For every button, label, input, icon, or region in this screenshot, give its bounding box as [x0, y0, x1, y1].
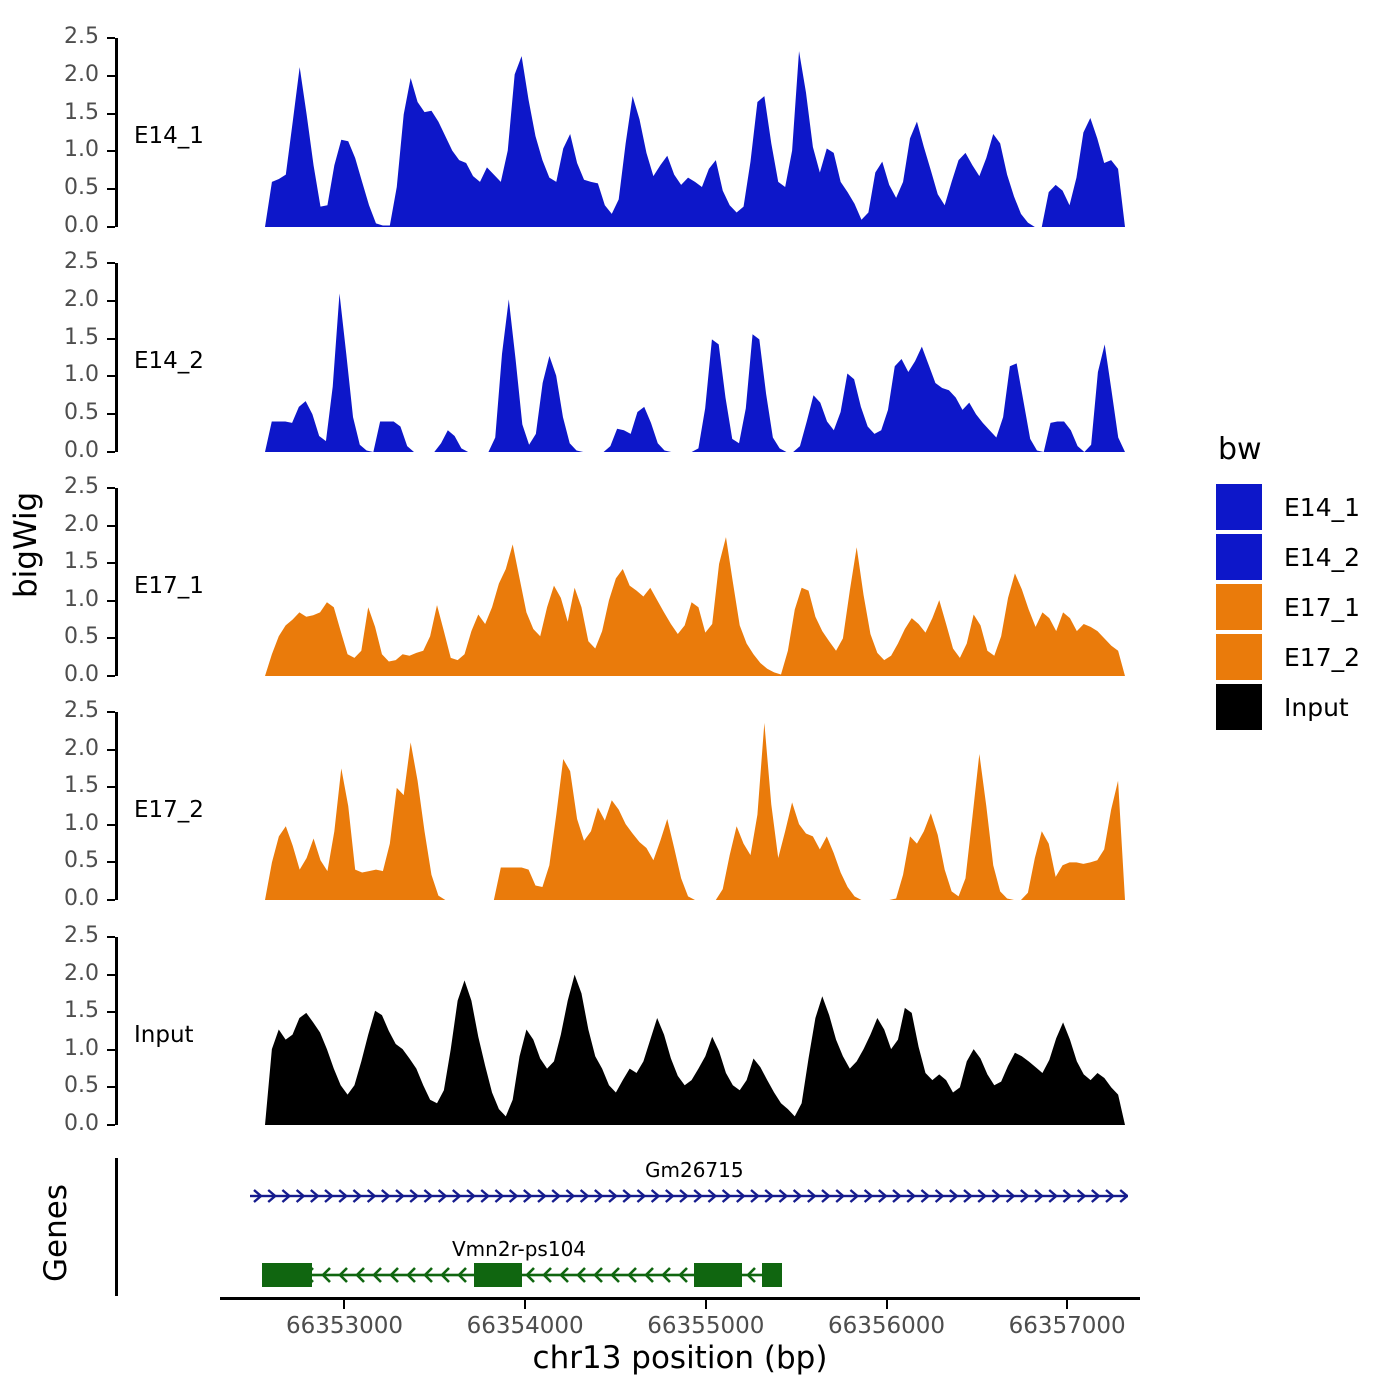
- panel-label-input: Input: [134, 1022, 194, 1048]
- x-tick-label: 66355000: [606, 1313, 806, 1339]
- gene-label-gm26715: Gm26715: [645, 1158, 744, 1182]
- y-tick-mark: [107, 37, 115, 39]
- y-tick-label: 1.5: [9, 775, 99, 797]
- y-tick-mark: [107, 487, 115, 489]
- y-tick-label: 0.0: [9, 440, 99, 462]
- y-tick-mark: [107, 675, 115, 677]
- x-tick-mark: [886, 1300, 888, 1309]
- y-tick-mark: [107, 113, 115, 115]
- y-tick-mark: [107, 1124, 115, 1126]
- y-tick-label: 1.5: [9, 327, 99, 349]
- y-tick-label: 0.0: [9, 215, 99, 237]
- y-tick-label: 1.0: [9, 813, 99, 835]
- y-tick-mark: [107, 525, 115, 527]
- legend-items: E14_1E14_2E17_1E17_2Input: [1216, 483, 1360, 731]
- y-tick-label: 1.5: [9, 1000, 99, 1022]
- y-axis-line-e14_2: [115, 263, 118, 452]
- panel-label-e17_1: E17_1: [134, 573, 204, 599]
- y-tick-mark: [107, 375, 115, 377]
- legend-swatch-icon: [1216, 484, 1262, 530]
- y-axis-line-e17_1: [115, 488, 118, 676]
- y-tick-label: 2.5: [9, 26, 99, 48]
- y-tick-label: 1.0: [9, 139, 99, 161]
- x-tick-label: 66357000: [967, 1313, 1167, 1339]
- legend-item-label: E14_2: [1284, 543, 1360, 572]
- legend-item-input[interactable]: Input: [1216, 683, 1360, 731]
- y-tick-mark: [107, 637, 115, 639]
- y-tick-label: 0.5: [9, 177, 99, 199]
- y-tick-label: 0.0: [9, 1113, 99, 1135]
- gene-label-vmn2r-ps104: Vmn2r-ps104: [452, 1237, 586, 1261]
- y-tick-label: 2.5: [9, 251, 99, 273]
- legend-item-label: E17_1: [1284, 593, 1360, 622]
- gene-feature-vmn2r-ps104[interactable]: [262, 1260, 782, 1290]
- x-axis-line: [220, 1297, 1140, 1300]
- y-tick-mark: [107, 974, 115, 976]
- legend: bw E14_1E14_2E17_1E17_2Input: [1216, 432, 1360, 733]
- legend-item-label: Input: [1284, 693, 1349, 722]
- y-tick-mark: [107, 562, 115, 564]
- y-tick-label: 1.0: [9, 589, 99, 611]
- y-tick-mark: [107, 300, 115, 302]
- y-tick-label: 1.5: [9, 102, 99, 124]
- bigwig-track-e17_2: [265, 712, 1125, 900]
- legend-item-e14_2[interactable]: E14_2: [1216, 533, 1360, 581]
- y-tick-label: 2.0: [9, 738, 99, 760]
- y-tick-mark: [107, 188, 115, 190]
- legend-swatch-icon: [1216, 534, 1262, 580]
- legend-title: bw: [1218, 432, 1360, 467]
- y-tick-mark: [107, 262, 115, 264]
- legend-swatch-icon: [1216, 684, 1262, 730]
- y-axis-line-e17_2: [115, 712, 118, 900]
- x-tick-label: 66356000: [787, 1313, 987, 1339]
- y-tick-label: 1.0: [9, 1038, 99, 1060]
- y-tick-mark: [107, 75, 115, 77]
- y-tick-label: 0.0: [9, 664, 99, 686]
- y-tick-mark: [107, 150, 115, 152]
- y-tick-mark: [107, 749, 115, 751]
- y-tick-label: 0.5: [9, 850, 99, 872]
- bigwig-track-input: [265, 937, 1125, 1125]
- y-tick-mark: [107, 338, 115, 340]
- gene-feature-gm26715[interactable]: [250, 1182, 1128, 1210]
- y-tick-mark: [107, 451, 115, 453]
- y-tick-label: 0.5: [9, 402, 99, 424]
- y-tick-label: 2.0: [9, 289, 99, 311]
- y-tick-mark: [107, 226, 115, 228]
- y-tick-mark: [107, 786, 115, 788]
- y-tick-label: 0.5: [9, 626, 99, 648]
- y-tick-label: 2.0: [9, 64, 99, 86]
- bigwig-track-e14_2: [265, 263, 1125, 452]
- bigwig-track-e17_1: [265, 488, 1125, 676]
- legend-item-label: E17_2: [1284, 643, 1360, 672]
- y-tick-mark: [107, 824, 115, 826]
- legend-item-e17_1[interactable]: E17_1: [1216, 583, 1360, 631]
- y-tick-mark: [107, 899, 115, 901]
- y-tick-mark: [107, 413, 115, 415]
- y-tick-mark: [107, 600, 115, 602]
- legend-swatch-icon: [1216, 584, 1262, 630]
- y-tick-label: 1.5: [9, 551, 99, 573]
- y-tick-mark: [107, 1086, 115, 1088]
- x-tick-mark: [705, 1300, 707, 1309]
- x-tick-mark: [524, 1300, 526, 1309]
- genes-axis-title: Genes: [38, 1173, 74, 1293]
- y-tick-label: 1.0: [9, 364, 99, 386]
- y-tick-label: 0.0: [9, 888, 99, 910]
- y-tick-label: 2.5: [9, 476, 99, 498]
- panel-label-e14_1: E14_1: [134, 123, 204, 149]
- panel-label-e14_2: E14_2: [134, 348, 204, 374]
- y-tick-mark: [107, 861, 115, 863]
- y-axis-line-input: [115, 937, 118, 1125]
- x-tick-label: 66353000: [244, 1313, 444, 1339]
- y-tick-label: 0.5: [9, 1075, 99, 1097]
- x-tick-mark: [1066, 1300, 1068, 1309]
- y-tick-mark: [107, 711, 115, 713]
- y-tick-label: 2.5: [9, 700, 99, 722]
- x-tick-label: 66354000: [425, 1313, 625, 1339]
- x-axis-title: chr13 position (bp): [220, 1340, 1140, 1376]
- y-tick-mark: [107, 936, 115, 938]
- genes-axis-line: [115, 1158, 118, 1296]
- legend-item-label: E14_1: [1284, 493, 1360, 522]
- y-tick-label: 2.5: [9, 925, 99, 947]
- y-axis-line-e14_1: [115, 38, 118, 227]
- legend-swatch-icon: [1216, 634, 1262, 680]
- legend-item-e17_2[interactable]: E17_2: [1216, 633, 1360, 681]
- legend-item-e14_1[interactable]: E14_1: [1216, 483, 1360, 531]
- panel-label-e17_2: E17_2: [134, 797, 204, 823]
- y-tick-mark: [107, 1049, 115, 1051]
- y-tick-label: 2.0: [9, 963, 99, 985]
- bigwig-track-e14_1: [265, 38, 1125, 227]
- y-tick-mark: [107, 1011, 115, 1013]
- x-tick-mark: [343, 1300, 345, 1309]
- y-tick-label: 2.0: [9, 514, 99, 536]
